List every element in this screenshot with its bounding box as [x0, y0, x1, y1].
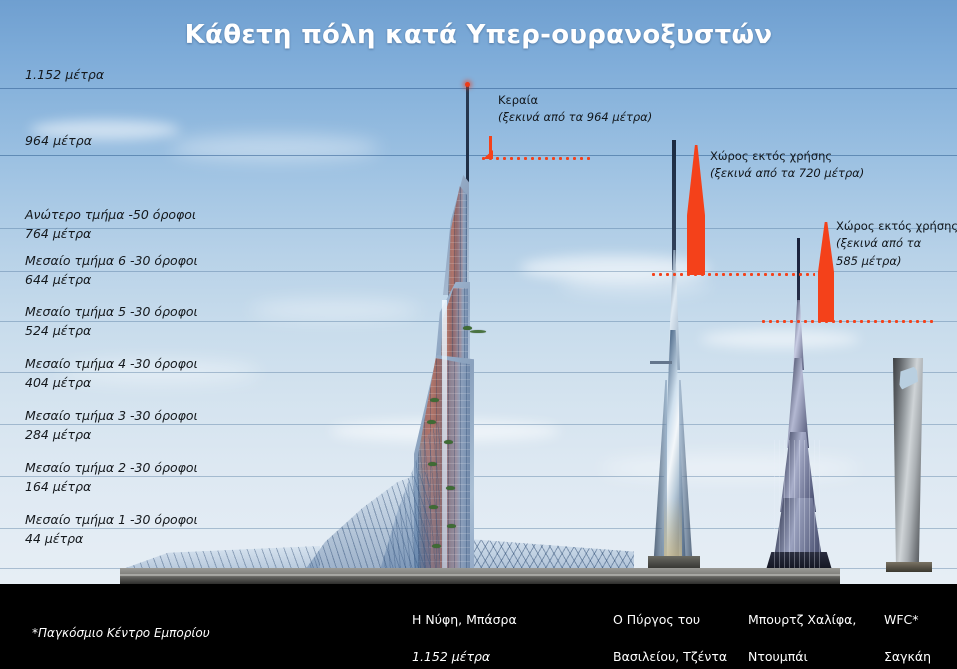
- building-height-bride: 1.152 μέτρα: [412, 648, 517, 667]
- callout-unused-kingdom-line1: Χώρος εκτός χρήσης: [710, 148, 864, 165]
- wfc-podium: [886, 562, 932, 572]
- tier-label-3: Μεσαίο τμήμα 4 -30 όροφοι 404 μέτρα: [25, 355, 198, 393]
- bride-sky-garden: [432, 544, 441, 548]
- tier-height-6: 44 μέτρα: [25, 530, 198, 549]
- callout-unused-kingdom: Χώρος εκτός χρήσης (ξεκινά από τα 720 μέ…: [710, 148, 864, 183]
- tier-label-4: Μεσαίο τμήμα 3 -30 όροφοι 284 μέτρα: [25, 407, 198, 445]
- callout-unused-burj-line3: 585 μέτρα): [836, 253, 957, 270]
- tier-height-2: 524 μέτρα: [25, 322, 198, 341]
- tier-name-2: Μεσαίο τμήμα 5 -30 όροφοι: [25, 303, 198, 322]
- building-name-bride: Η Νύφη, Μπάσρα: [412, 611, 517, 630]
- bride-sky-garden: [447, 524, 456, 528]
- bride-sky-garden: [429, 505, 438, 509]
- bride-sky-garden: [444, 440, 453, 444]
- callout-unused-burj-line1: Χώρος εκτός χρήσης: [836, 218, 957, 235]
- tier-name-3: Μεσαίο τμήμα 4 -30 όροφοι: [25, 355, 198, 374]
- unused-burj-dotted-guide: [760, 320, 935, 323]
- tier-label-2: Μεσαίο τμήμα 5 -30 όροφοι 524 μέτρα: [25, 303, 198, 341]
- axis-label-1152: 1.152 μέτρα: [25, 66, 104, 84]
- building-name-wfc-line2: Σαγκάη: [884, 648, 950, 667]
- tier-label-0: Ανώτερο τμήμα -50 όροφοι 764 μέτρα: [25, 206, 196, 244]
- building-label-burj: Μπουρτζ Χαλίφα, Ντουμπάι 828 μέτρα: [748, 592, 856, 669]
- callout-antenna-line1: Κεραία: [498, 92, 652, 109]
- burj-fluting: [774, 440, 822, 570]
- building-name-kingdom-line1: Ο Πύργος του: [613, 611, 727, 630]
- cloud: [700, 330, 860, 348]
- cloud: [170, 135, 380, 161]
- road-stripe: [120, 574, 840, 576]
- building-name-kingdom-line2: Βασιλείου, Τζέντα: [613, 648, 727, 667]
- tier-name-1: Μεσαίο τμήμα 6 -30 όροφοι: [25, 252, 198, 271]
- tier-height-0: 764 μέτρα: [25, 225, 196, 244]
- footnote: *Παγκόσμιο Κέντρο Εμπορίου: [32, 626, 210, 640]
- bride-antenna-tip: [465, 82, 470, 87]
- antenna-dotted-guide: [480, 157, 590, 160]
- wfc-tower-body: [893, 358, 923, 570]
- tier-name-6: Μεσαίο τμήμα 1 -30 όροφοι: [25, 511, 198, 530]
- building-label-wfc: WFC* Σαγκάη 492 μέτρα: [884, 592, 950, 669]
- tier-name-0: Ανώτερο τμήμα -50 όροφοι: [25, 206, 196, 225]
- gridline-1152: [0, 88, 957, 89]
- cloud: [250, 300, 420, 320]
- callout-unused-kingdom-line2: (ξεκινά από τα 720 μέτρα): [710, 165, 864, 182]
- callout-antenna-line2: (ξεκινά από τα 964 μέτρα): [498, 109, 652, 126]
- tier-name-5: Μεσαίο τμήμα 2 -30 όροφοι: [25, 459, 198, 478]
- building-name-burj-line2: Ντουμπάι: [748, 648, 856, 667]
- tier-label-6: Μεσαίο τμήμα 1 -30 όροφοι 44 μέτρα: [25, 511, 198, 549]
- infographic-root: Κάθετη πόλη κατά Υπερ-ουρανοξυστών 1.152…: [0, 0, 957, 669]
- callout-antenna: Κεραία (ξεκινά από τα 964 μέτρα): [498, 92, 652, 127]
- callout-unused-burj-line2: (ξεκινά από τα: [836, 235, 957, 252]
- tier-height-1: 644 μέτρα: [25, 271, 198, 290]
- building-label-bride: Η Νύφη, Μπάσρα 1.152 μέτρα: [412, 592, 517, 669]
- tier-name-4: Μεσαίο τμήμα 3 -30 όροφοι: [25, 407, 198, 426]
- tier-height-3: 404 μέτρα: [25, 374, 198, 393]
- bride-sky-garden: [427, 420, 436, 424]
- unused-kingdom-dotted-guide: [650, 273, 815, 276]
- bride-glass-fin: [442, 300, 447, 570]
- kingdom-sky-terrace: [650, 361, 672, 364]
- tier-height-4: 284 μέτρα: [25, 426, 198, 445]
- bride-sky-garden: [470, 330, 486, 333]
- building-name-burj-line1: Μπουρτζ Χαλίφα,: [748, 611, 856, 630]
- bride-sky-garden: [430, 398, 439, 402]
- tier-label-1: Μεσαίο τμήμα 6 -30 όροφοι 644 μέτρα: [25, 252, 198, 290]
- callout-unused-burj: Χώρος εκτός χρήσης (ξεκινά από τα 585 μέ…: [836, 218, 957, 270]
- bride-sky-garden: [428, 462, 437, 466]
- bride-sky-garden: [446, 486, 455, 490]
- building-name-wfc-line1: WFC*: [884, 611, 950, 630]
- ground-plinth: [120, 568, 840, 584]
- bride-sky-garden: [463, 326, 472, 330]
- building-label-kingdom: Ο Πύργος του Βασιλείου, Τζέντα 1.000 μέτ…: [613, 592, 727, 669]
- axis-label-964: 964 μέτρα: [25, 132, 92, 150]
- tier-label-5: Μεσαίο τμήμα 2 -30 όροφοι 164 μέτρα: [25, 459, 198, 497]
- page-title: Κάθετη πόλη κατά Υπερ-ουρανοξυστών: [0, 20, 957, 50]
- tier-height-5: 164 μέτρα: [25, 478, 198, 497]
